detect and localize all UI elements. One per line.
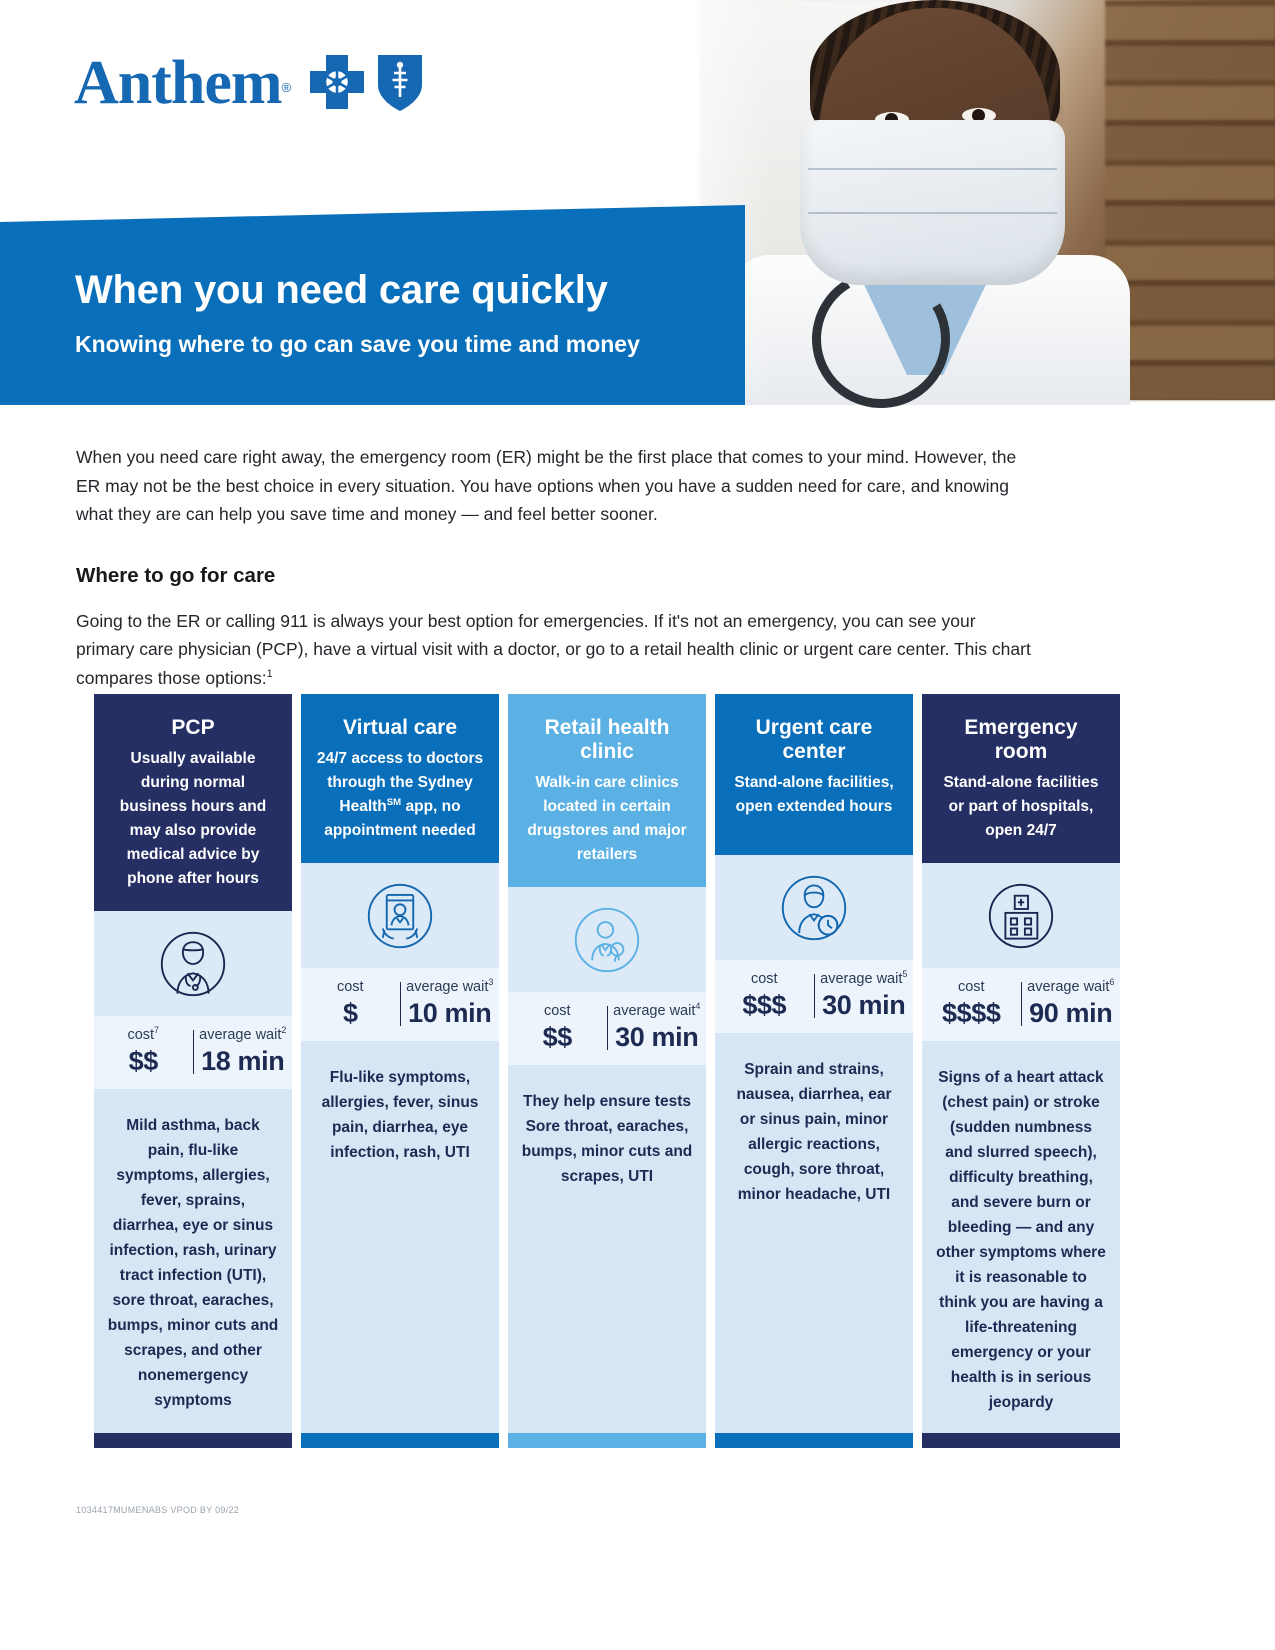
wait-metric: average wait4 30 min	[608, 1003, 707, 1052]
wait-footnote-marker: 2	[281, 1025, 286, 1035]
column-header: Emergency room Stand-alone facilities or…	[922, 694, 1120, 863]
column-description: 24/7 access to doctors through the Sydne…	[315, 747, 485, 843]
wait-value: 30 min	[815, 990, 914, 1020]
column-metrics: cost $$$ average wait5 30 min	[715, 960, 913, 1033]
chart-column-emergency-room: Emergency room Stand-alone facilities or…	[922, 694, 1120, 1448]
main-content: When you need care right away, the emerg…	[76, 443, 1076, 692]
column-body: Signs of a heart attack (chest pain) or …	[922, 1041, 1120, 1433]
cost-value: $	[301, 998, 400, 1028]
column-footer-bar	[922, 1433, 1120, 1448]
wait-metric: average wait2 18 min	[194, 1027, 293, 1076]
column-metrics: cost7 $$ average wait2 18 min	[94, 1016, 292, 1089]
cost-metric: cost $$	[508, 1003, 607, 1052]
wait-metric: average wait6 90 min	[1022, 979, 1121, 1028]
cost-value: $$$	[715, 990, 814, 1020]
symptoms-text: Sprain and strains, nausea, diarrhea, ea…	[728, 1057, 900, 1207]
wait-metric: average wait3 10 min	[401, 979, 500, 1028]
photo-bookcase	[1105, 0, 1275, 400]
wait-footnote-marker: 5	[902, 969, 907, 979]
hero-section: Anthem® When you need care quickly Knowi…	[0, 0, 1275, 410]
wait-value: 30 min	[608, 1022, 707, 1052]
column-footer-bar	[94, 1433, 292, 1448]
cost-label: cost	[508, 1003, 607, 1020]
wait-label: average wait2	[194, 1027, 293, 1044]
column-header: Urgent care center Stand-alone facilitie…	[715, 694, 913, 855]
wait-label: average wait5	[815, 971, 914, 988]
tablet-video-visit-icon	[361, 877, 439, 955]
chart-column-virtual-care: Virtual care 24/7 access to doctors thro…	[301, 694, 499, 1448]
column-header: PCP Usually available during normal busi…	[94, 694, 292, 911]
column-icon-area	[508, 887, 706, 992]
wait-footnote-marker: 4	[695, 1001, 700, 1011]
wait-label: average wait6	[1022, 979, 1121, 996]
anthem-logo: Anthem®	[74, 48, 436, 119]
lead-paragraph: Going to the ER or calling 911 is always…	[76, 607, 1031, 693]
chart-column-retail-health-clinic: Retail health clinic Walk-in care clinic…	[508, 694, 706, 1448]
care-options-chart: PCP Usually available during normal busi…	[94, 694, 1120, 1448]
cost-metric: cost $$$	[715, 971, 814, 1020]
cost-value: $$	[508, 1022, 607, 1052]
cost-metric: cost7 $$	[94, 1027, 193, 1076]
column-description: Usually available during normal business…	[108, 747, 278, 891]
brand-name: Anthem	[74, 49, 282, 117]
column-metrics: cost $$$$ average wait6 90 min	[922, 968, 1120, 1041]
symptoms-text: Flu-like symptoms, allergies, fever, sin…	[314, 1065, 486, 1165]
column-description: Walk-in care clinics located in certain …	[522, 771, 692, 867]
column-header: Virtual care 24/7 access to doctors thro…	[301, 694, 499, 863]
cost-metric: cost $	[301, 979, 400, 1028]
column-metrics: cost $ average wait3 10 min	[301, 968, 499, 1041]
document-code: 1034417MUMENABS VPOD BY 09/22	[76, 1505, 239, 1515]
nurse-with-clock-icon	[775, 869, 853, 947]
lead-footnote-marker: 1	[267, 668, 273, 680]
wait-footnote-marker: 3	[488, 977, 493, 987]
column-icon-area	[922, 863, 1120, 968]
doctor-photo	[700, 0, 1275, 400]
column-title: Emergency room	[936, 716, 1106, 764]
column-metrics: cost $$ average wait4 30 min	[508, 992, 706, 1065]
wait-value: 90 min	[1022, 998, 1121, 1028]
column-body: They help ensure tests Sore throat, eara…	[508, 1065, 706, 1433]
service-mark: SM	[387, 797, 401, 808]
column-icon-area	[94, 911, 292, 1016]
cost-label: cost7	[94, 1027, 193, 1044]
symptoms-text: Mild asthma, back pain, flu-like symptom…	[107, 1113, 279, 1413]
column-title: PCP	[108, 716, 278, 740]
hospital-building-icon	[982, 877, 1060, 955]
column-description: Stand-alone facilities, open extended ho…	[729, 771, 899, 819]
doctor-with-stethoscope-icon	[154, 925, 232, 1003]
symptoms-text: They help ensure tests Sore throat, eara…	[521, 1089, 693, 1189]
wait-label: average wait3	[401, 979, 500, 996]
column-header: Retail health clinic Walk-in care clinic…	[508, 694, 706, 887]
page-title: When you need care quickly	[75, 267, 735, 313]
face-mask-icon	[800, 120, 1065, 285]
column-footer-bar	[301, 1433, 499, 1448]
wait-value: 18 min	[194, 1046, 293, 1076]
column-footer-bar	[715, 1433, 913, 1448]
cost-label: cost	[301, 979, 400, 996]
wait-value: 10 min	[401, 998, 500, 1028]
intro-paragraph: When you need care right away, the emerg…	[76, 443, 1036, 529]
chart-column-urgent-care-center: Urgent care center Stand-alone facilitie…	[715, 694, 913, 1448]
section-heading: Where to go for care	[76, 564, 1076, 588]
hero-banner: When you need care quickly Knowing where…	[0, 205, 745, 405]
column-body: Sprain and strains, nausea, diarrhea, ea…	[715, 1033, 913, 1433]
column-title: Virtual care	[315, 716, 485, 740]
blue-cross-shield-logo	[306, 53, 436, 115]
column-footer-bar	[508, 1433, 706, 1448]
column-icon-area	[301, 863, 499, 968]
chart-column-pcp: PCP Usually available during normal busi…	[94, 694, 292, 1448]
cost-metric: cost $$$$	[922, 979, 1021, 1028]
wait-footnote-marker: 6	[1109, 977, 1114, 987]
nurse-with-patient-icon	[568, 901, 646, 979]
column-description: Stand-alone facilities or part of hospit…	[936, 771, 1106, 843]
cost-value: $$	[94, 1046, 193, 1076]
column-title: Retail health clinic	[522, 716, 692, 764]
brand-registered-mark: ®	[282, 80, 292, 95]
symptoms-text: Signs of a heart attack (chest pain) or …	[935, 1065, 1107, 1415]
cost-footnote-marker: 7	[154, 1025, 159, 1035]
wait-label: average wait4	[608, 1003, 707, 1020]
column-icon-area	[715, 855, 913, 960]
lead-text: Going to the ER or calling 911 is always…	[76, 611, 1031, 688]
wait-metric: average wait5 30 min	[815, 971, 914, 1020]
column-title: Urgent care center	[729, 716, 899, 764]
cost-label: cost	[922, 979, 1021, 996]
column-body: Flu-like symptoms, allergies, fever, sin…	[301, 1041, 499, 1433]
cost-value: $$$$	[922, 998, 1021, 1028]
cost-label: cost	[715, 971, 814, 988]
page-subtitle: Knowing where to go can save you time an…	[75, 331, 735, 358]
column-body: Mild asthma, back pain, flu-like symptom…	[94, 1089, 292, 1433]
